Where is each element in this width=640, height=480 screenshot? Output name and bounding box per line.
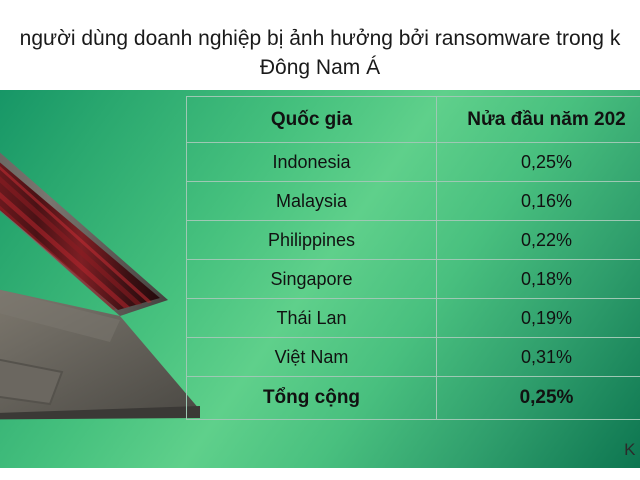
cell-country: Indonesia <box>187 143 437 182</box>
cell-country: Thái Lan <box>187 299 437 338</box>
cell-value-total: 0,25% <box>437 377 640 420</box>
cell-value: 0,25% <box>437 143 640 182</box>
cell-country: Singapore <box>187 260 437 299</box>
cell-country: Philippines <box>187 221 437 260</box>
column-header-value: Nửa đầu năm 202 <box>437 97 640 143</box>
data-table-container: Quốc gia Nửa đầu năm 202 Indonesia 0,25%… <box>186 96 640 420</box>
table-header-row: Quốc gia Nửa đầu năm 202 <box>187 97 640 143</box>
cell-value: 0,31% <box>437 338 640 377</box>
cell-country-total: Tổng cộng <box>187 377 437 420</box>
ransomware-table: Quốc gia Nửa đầu năm 202 Indonesia 0,25%… <box>186 96 640 420</box>
table-row: Indonesia 0,25% <box>187 143 640 182</box>
cell-value: 0,16% <box>437 182 640 221</box>
cell-value: 0,18% <box>437 260 640 299</box>
table-row: Việt Nam 0,31% <box>187 338 640 377</box>
cell-country: Malaysia <box>187 182 437 221</box>
cell-value: 0,22% <box>437 221 640 260</box>
slide-canvas: người dùng doanh nghiệp bị ảnh hưởng bởi… <box>0 0 640 480</box>
cell-value: 0,19% <box>437 299 640 338</box>
table-row: Thái Lan 0,19% <box>187 299 640 338</box>
cell-country: Việt Nam <box>187 338 437 377</box>
table-row: Philippines 0,22% <box>187 221 640 260</box>
column-header-country: Quốc gia <box>187 97 437 143</box>
table-row: Singapore 0,18% <box>187 260 640 299</box>
table-row-total: Tổng cộng 0,25% <box>187 377 640 420</box>
table-row: Malaysia 0,16% <box>187 182 640 221</box>
watermark-text: K <box>624 440 636 460</box>
page-title: người dùng doanh nghiệp bị ảnh hưởng bởi… <box>0 24 640 82</box>
top-white-strip <box>0 0 640 18</box>
bottom-white-strip <box>0 468 640 480</box>
